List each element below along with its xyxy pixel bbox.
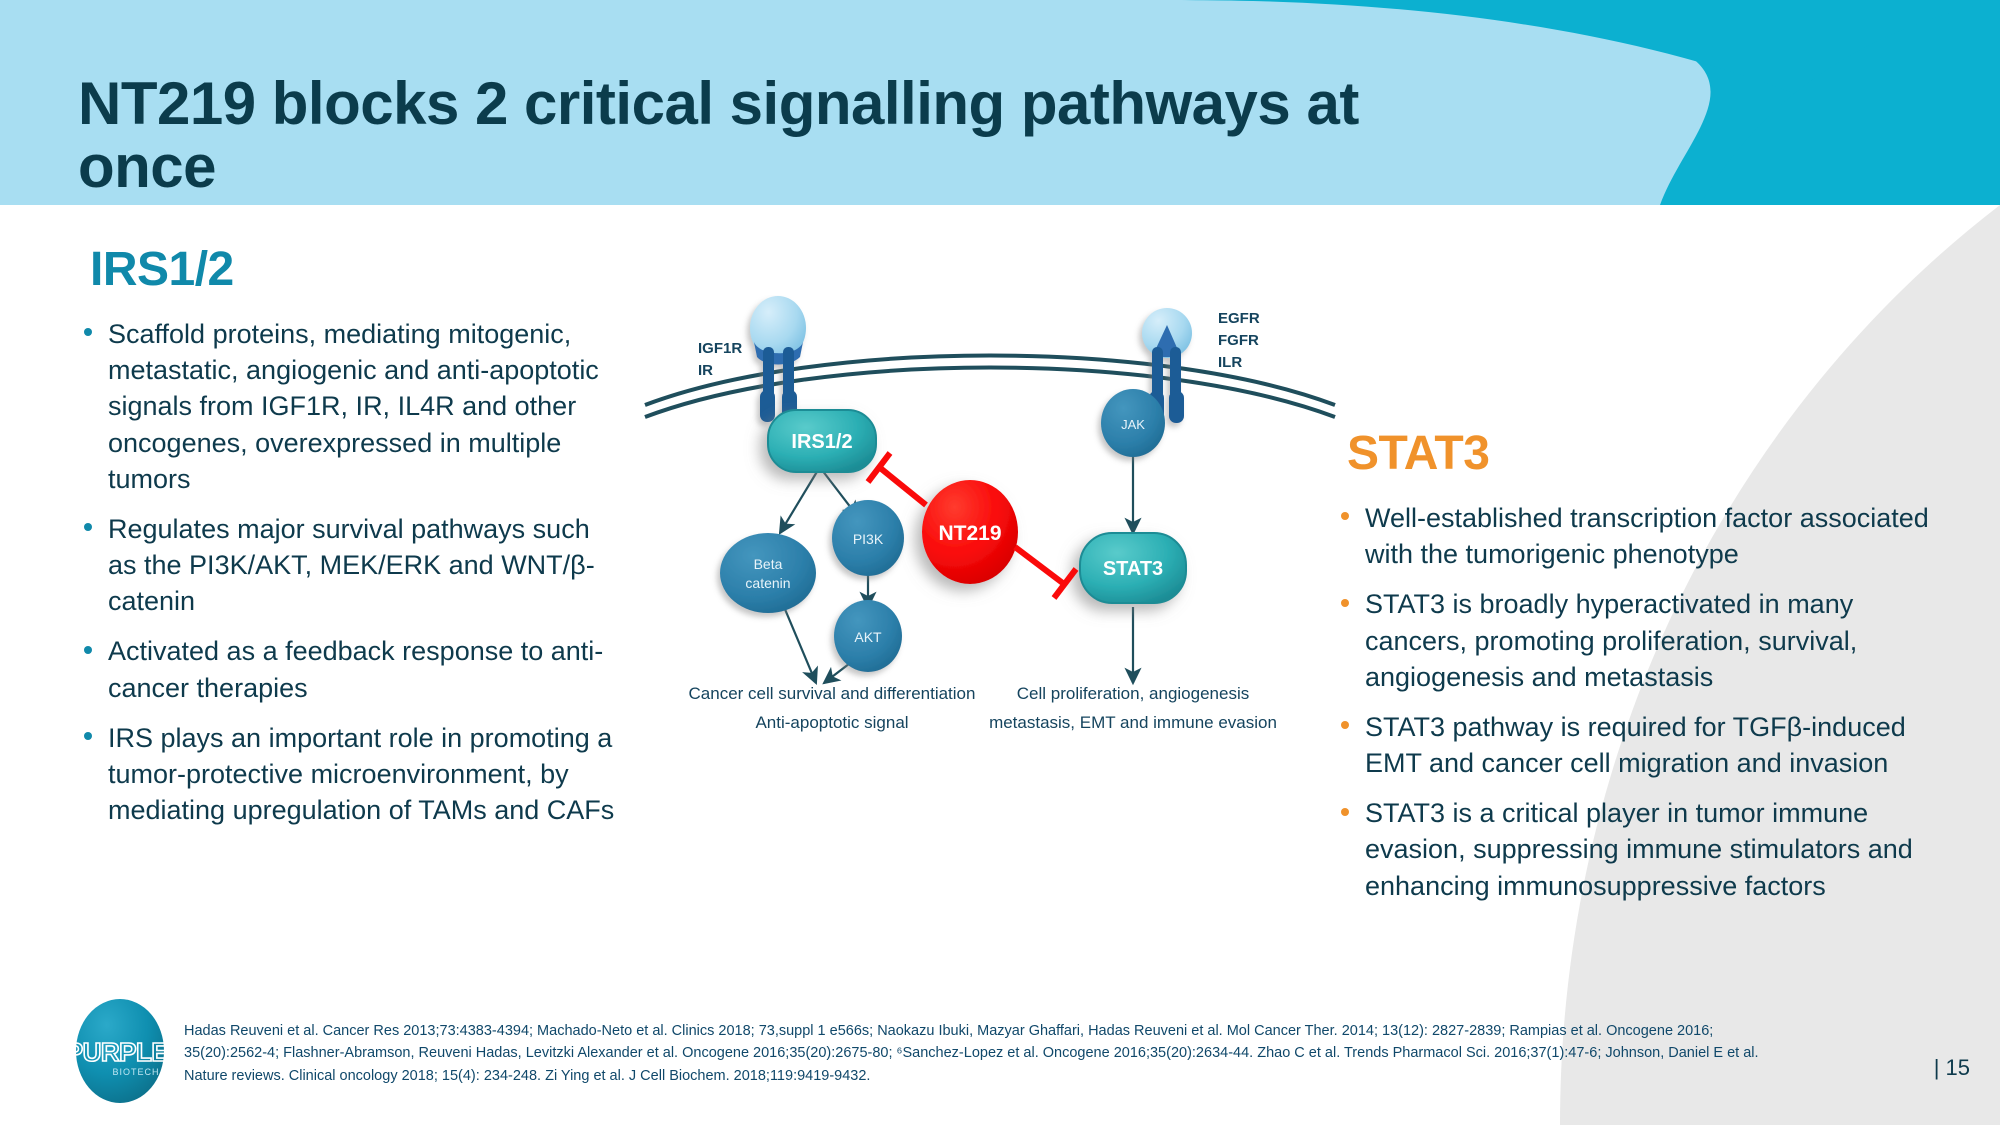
receptor-label-igf1r: IGF1R bbox=[698, 340, 742, 357]
bullet-dot-icon bbox=[1341, 808, 1349, 816]
receptor-label-ilr: ILR bbox=[1218, 354, 1242, 371]
logo-wordmark: PURPLE bbox=[66, 1037, 169, 1067]
bullet-text: Well-established transcription factor as… bbox=[1365, 503, 1929, 569]
inhibition-arrow-to-stat3 bbox=[1015, 547, 1076, 598]
left-column: IRS1/2 Scaffold proteins, mediating mito… bbox=[78, 246, 618, 842]
bullet-text: STAT3 is broadly hyperactivated in many … bbox=[1365, 589, 1857, 691]
irs-bullet-list: Scaffold proteins, mediating mitogenic, … bbox=[78, 316, 618, 828]
receptor-label-fgfr: FGFR bbox=[1218, 332, 1259, 349]
bullet-text: STAT3 pathway is required for TGFβ-induc… bbox=[1365, 712, 1906, 778]
bullet-dot-icon bbox=[1341, 721, 1349, 729]
bullet-text: IRS plays an important role in promoting… bbox=[108, 723, 614, 825]
outcome-left-line1: Cancer cell survival and differentiation bbox=[689, 684, 976, 703]
node-label-beta-catenin-2: catenin bbox=[745, 575, 790, 591]
inhibition-arrow-to-irs bbox=[868, 453, 926, 505]
references-text: Hadas Reuveni et al. Cancer Res 2013;73:… bbox=[184, 1020, 1784, 1087]
stat3-heading: STAT3 bbox=[1347, 430, 1935, 478]
page-title: NT219 blocks 2 critical signalling pathw… bbox=[78, 72, 1478, 198]
bullet-dot-icon bbox=[1341, 599, 1349, 607]
list-item: STAT3 is broadly hyperactivated in many … bbox=[1335, 586, 1935, 695]
node-label-irs12: IRS1/2 bbox=[791, 431, 852, 453]
bullet-text: STAT3 is a critical player in tumor immu… bbox=[1365, 798, 1913, 900]
irs-heading: IRS1/2 bbox=[90, 246, 618, 294]
bullet-text: Scaffold proteins, mediating mitogenic, … bbox=[108, 319, 599, 494]
list-item: STAT3 pathway is required for TGFβ-induc… bbox=[1335, 709, 1935, 781]
outcome-right-line2: metastasis, EMT and immune evasion bbox=[989, 713, 1277, 732]
outcome-left-line2: Anti-apoptotic signal bbox=[755, 713, 908, 732]
receptor-label-ir: IR bbox=[698, 362, 713, 379]
node-label-beta-catenin-1: Beta bbox=[754, 556, 783, 572]
node-label-stat3: STAT3 bbox=[1103, 558, 1163, 580]
stat3-bullet-list: Well-established transcription factor as… bbox=[1335, 500, 1935, 904]
list-item: STAT3 is a critical player in tumor immu… bbox=[1335, 795, 1935, 904]
right-column: STAT3 Well-established transcription fac… bbox=[1335, 430, 1935, 918]
receptor-label-egfr: EGFR bbox=[1218, 310, 1260, 327]
list-item: Activated as a feedback response to anti… bbox=[78, 633, 618, 705]
node-label-akt: AKT bbox=[854, 629, 882, 645]
list-item: IRS plays an important role in promoting… bbox=[78, 720, 618, 829]
node-beta-catenin bbox=[720, 533, 816, 613]
bullet-text: Regulates major survival pathways such a… bbox=[108, 514, 595, 616]
list-item: Regulates major survival pathways such a… bbox=[78, 511, 618, 620]
pathway-diagram: IGF1R IR EGFR FGFR ILR bbox=[640, 295, 1340, 825]
node-label-pi3k: PI3K bbox=[853, 531, 884, 547]
slide-root: NT219 blocks 2 critical signalling pathw… bbox=[0, 0, 2000, 1125]
purple-biotech-logo: PURPLE BIOTECH bbox=[58, 995, 176, 1107]
outcome-right-line1: Cell proliferation, angiogenesis bbox=[1017, 684, 1249, 703]
bullet-dot-icon bbox=[84, 732, 92, 740]
bullet-dot-icon bbox=[84, 646, 92, 654]
igf1r-receptor-icon bbox=[750, 296, 806, 422]
node-label-jak: JAK bbox=[1121, 417, 1145, 432]
bullet-text: Activated as a feedback response to anti… bbox=[108, 636, 603, 702]
bullet-dot-icon bbox=[84, 328, 92, 336]
bullet-dot-icon bbox=[1341, 512, 1349, 520]
node-label-nt219: NT219 bbox=[938, 522, 1001, 545]
list-item: Well-established transcription factor as… bbox=[1335, 500, 1935, 572]
logo-subtext: BIOTECH bbox=[112, 1067, 159, 1077]
list-item: Scaffold proteins, mediating mitogenic, … bbox=[78, 316, 618, 497]
page-number: | 15 bbox=[1934, 1055, 1970, 1081]
bullet-dot-icon bbox=[84, 523, 92, 531]
